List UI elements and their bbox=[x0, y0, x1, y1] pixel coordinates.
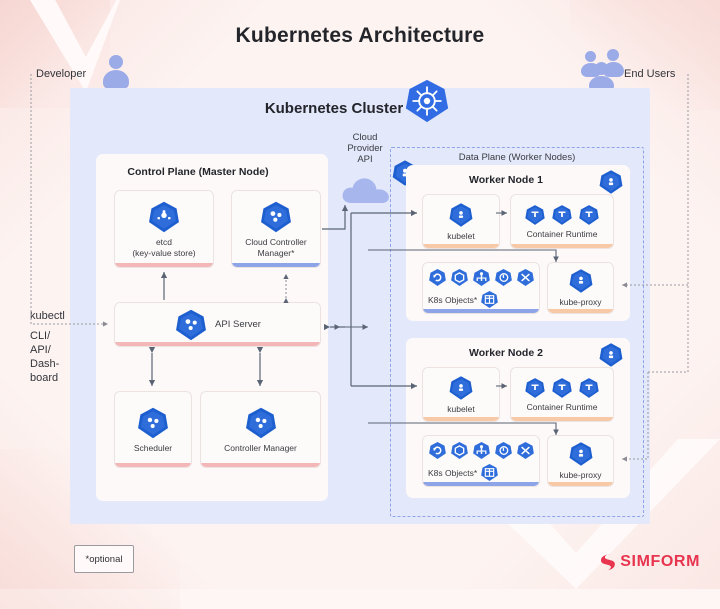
worker-node-1-title: Worker Node 1 bbox=[406, 174, 630, 186]
developer-label: Developer bbox=[36, 68, 86, 80]
scheduler-box[interactable]: Scheduler bbox=[114, 391, 192, 468]
cloud-controller-manager-box[interactable]: Cloud Controller Manager* bbox=[231, 190, 321, 268]
worker-1-k8s-objects-box[interactable]: K8s Objects* bbox=[422, 262, 540, 314]
worker-node-1-badge-icon bbox=[598, 169, 624, 195]
container-icon bbox=[524, 204, 546, 226]
simform-brand-text: SIMFORM bbox=[620, 553, 700, 571]
namespace-icon bbox=[480, 290, 499, 309]
etcd-label: etcd (key-value store) bbox=[132, 237, 195, 259]
worker-node-1-panel: Worker Node 1 kubelet bbox=[406, 165, 630, 321]
worker-2-kubelet-box[interactable]: kubelet bbox=[422, 367, 500, 422]
worker-1-k8s-objects-label: K8s Objects* bbox=[428, 295, 477, 305]
worker-1-kubelet-box[interactable]: kubelet bbox=[422, 194, 500, 249]
worker-2-kubelet-label: kubelet bbox=[447, 404, 474, 415]
worker-2-k8s-objects-label: K8s Objects* bbox=[428, 468, 477, 478]
kubelet-icon bbox=[448, 202, 474, 228]
api-server-icon bbox=[174, 308, 208, 342]
worker-1-kube-proxy-box[interactable]: kube-proxy bbox=[547, 262, 614, 314]
api-server-label: API Server bbox=[215, 319, 261, 330]
worker-node-2-badge-icon bbox=[598, 342, 624, 368]
worker-node-2-panel: Worker Node 2 kubelet bbox=[406, 338, 630, 498]
service-icon bbox=[472, 441, 491, 460]
service-icon bbox=[472, 268, 491, 287]
controller-manager-box[interactable]: Controller Manager bbox=[200, 391, 321, 468]
etcd-accent-bar bbox=[115, 263, 213, 267]
deployment-icon bbox=[494, 268, 513, 287]
controller-manager-label: Controller Manager bbox=[224, 443, 297, 454]
container-icon bbox=[578, 204, 600, 226]
scheduler-icon bbox=[136, 406, 170, 440]
kube-proxy-icon bbox=[568, 441, 594, 467]
worker-1-kubelet-label: kubelet bbox=[447, 231, 474, 242]
container-icon bbox=[524, 377, 546, 399]
kube-proxy-icon bbox=[568, 268, 594, 294]
namespace-icon bbox=[480, 463, 499, 482]
worker-1-kubelet-accent-bar bbox=[423, 244, 499, 248]
worker-1-container-runtime-label: Container Runtime bbox=[527, 229, 598, 240]
worker-2-kube-proxy-box[interactable]: kube-proxy bbox=[547, 435, 614, 487]
data-plane-title: Data Plane (Worker Nodes) bbox=[391, 152, 643, 163]
replicaset-icon bbox=[428, 441, 447, 460]
control-plane-title: Control Plane (Master Node) bbox=[96, 166, 328, 178]
page-title: Kubernetes Architecture bbox=[0, 24, 720, 48]
worker-1-proxy-accent-bar bbox=[548, 309, 613, 313]
container-icon bbox=[551, 377, 573, 399]
etcd-box[interactable]: etcd (key-value store) bbox=[114, 190, 214, 268]
worker-node-2-title: Worker Node 2 bbox=[406, 347, 630, 359]
worker-1-objects-accent-bar bbox=[423, 309, 539, 313]
worker-2-objects-accent-bar bbox=[423, 482, 539, 486]
cloud-icon bbox=[340, 172, 392, 206]
end-users-label: End Users bbox=[624, 68, 675, 80]
worker-1-container-runtime-box[interactable]: Container Runtime bbox=[510, 194, 614, 249]
worker-2-container-runtime-label: Container Runtime bbox=[527, 402, 598, 413]
container-icon bbox=[578, 377, 600, 399]
worker-1-kube-proxy-label: kube-proxy bbox=[559, 297, 601, 308]
deployment-icon bbox=[494, 441, 513, 460]
end-users-icon bbox=[582, 48, 628, 88]
kubelet-icon bbox=[448, 375, 474, 401]
worker-2-container-runtime-box[interactable]: Container Runtime bbox=[510, 367, 614, 422]
simform-brand: SIMFORM bbox=[599, 553, 700, 571]
worker-2-runtime-accent-bar bbox=[511, 417, 613, 421]
replicaset-icon bbox=[428, 268, 447, 287]
cli-api-dashboard-label: CLI/ API/ Dash- board bbox=[30, 329, 59, 385]
worker-1-runtime-accent-bar bbox=[511, 244, 613, 248]
api-server-box[interactable]: API Server bbox=[114, 302, 321, 347]
simform-logo-icon bbox=[599, 553, 616, 571]
container-icon bbox=[551, 204, 573, 226]
worker-2-kube-proxy-label: kube-proxy bbox=[559, 470, 601, 481]
job-icon bbox=[516, 268, 535, 287]
worker-2-kubelet-accent-bar bbox=[423, 417, 499, 421]
kubernetes-helm-icon bbox=[404, 78, 450, 124]
scheduler-label: Scheduler bbox=[134, 443, 172, 454]
pod-icon bbox=[450, 441, 469, 460]
controller-manager-accent-bar bbox=[201, 463, 320, 467]
worker-2-k8s-objects-box[interactable]: K8s Objects* bbox=[422, 435, 540, 487]
developer-icon bbox=[100, 55, 132, 89]
etcd-icon bbox=[147, 200, 181, 234]
optional-note-box: *optional bbox=[74, 545, 134, 573]
worker-2-proxy-accent-bar bbox=[548, 482, 613, 486]
job-icon bbox=[516, 441, 535, 460]
cloud-provider-api-label: Cloud Provider API bbox=[336, 132, 394, 165]
ccm-accent-bar bbox=[232, 263, 320, 267]
cloud-controller-manager-icon bbox=[259, 200, 293, 234]
cloud-controller-manager-label: Cloud Controller Manager* bbox=[245, 237, 306, 259]
controller-manager-icon bbox=[244, 406, 278, 440]
cluster-title: Kubernetes Cluster bbox=[70, 100, 650, 117]
api-server-accent-bar bbox=[115, 342, 320, 346]
kubectl-label: kubectl bbox=[30, 310, 65, 322]
scheduler-accent-bar bbox=[115, 463, 191, 467]
pod-icon bbox=[450, 268, 469, 287]
